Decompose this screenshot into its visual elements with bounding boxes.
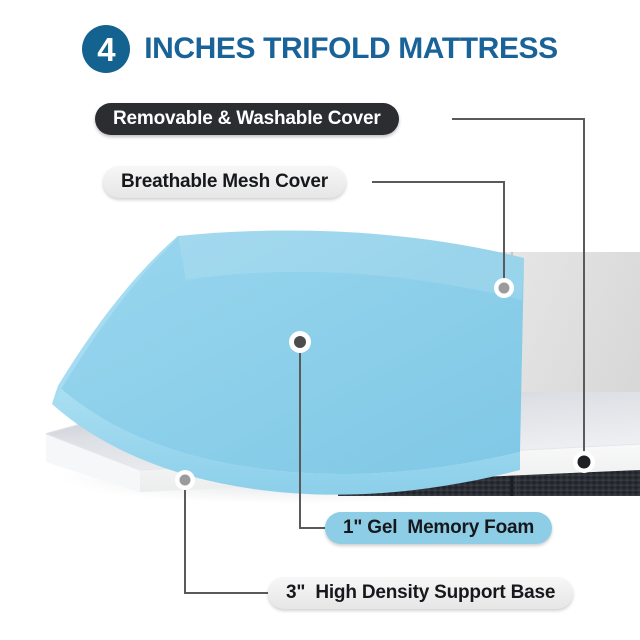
callout-removable-washable-cover: Removable & Washable Cover xyxy=(95,103,399,135)
marker-support-base xyxy=(175,470,195,490)
marker-removable-cover xyxy=(573,451,595,473)
product-illustration xyxy=(0,0,640,640)
marker-breathable-mesh xyxy=(494,278,514,298)
callout-breathable-mesh-cover: Breathable Mesh Cover xyxy=(103,166,346,198)
infographic-page: 4 INCHES TRIFOLD MATTRESS xyxy=(0,0,640,640)
callout-gel-memory-foam: 1" Gel Memory Foam xyxy=(325,512,552,544)
callout-high-density-support-base: 3" High Density Support Base xyxy=(268,577,573,609)
marker-gel-foam xyxy=(289,331,311,353)
